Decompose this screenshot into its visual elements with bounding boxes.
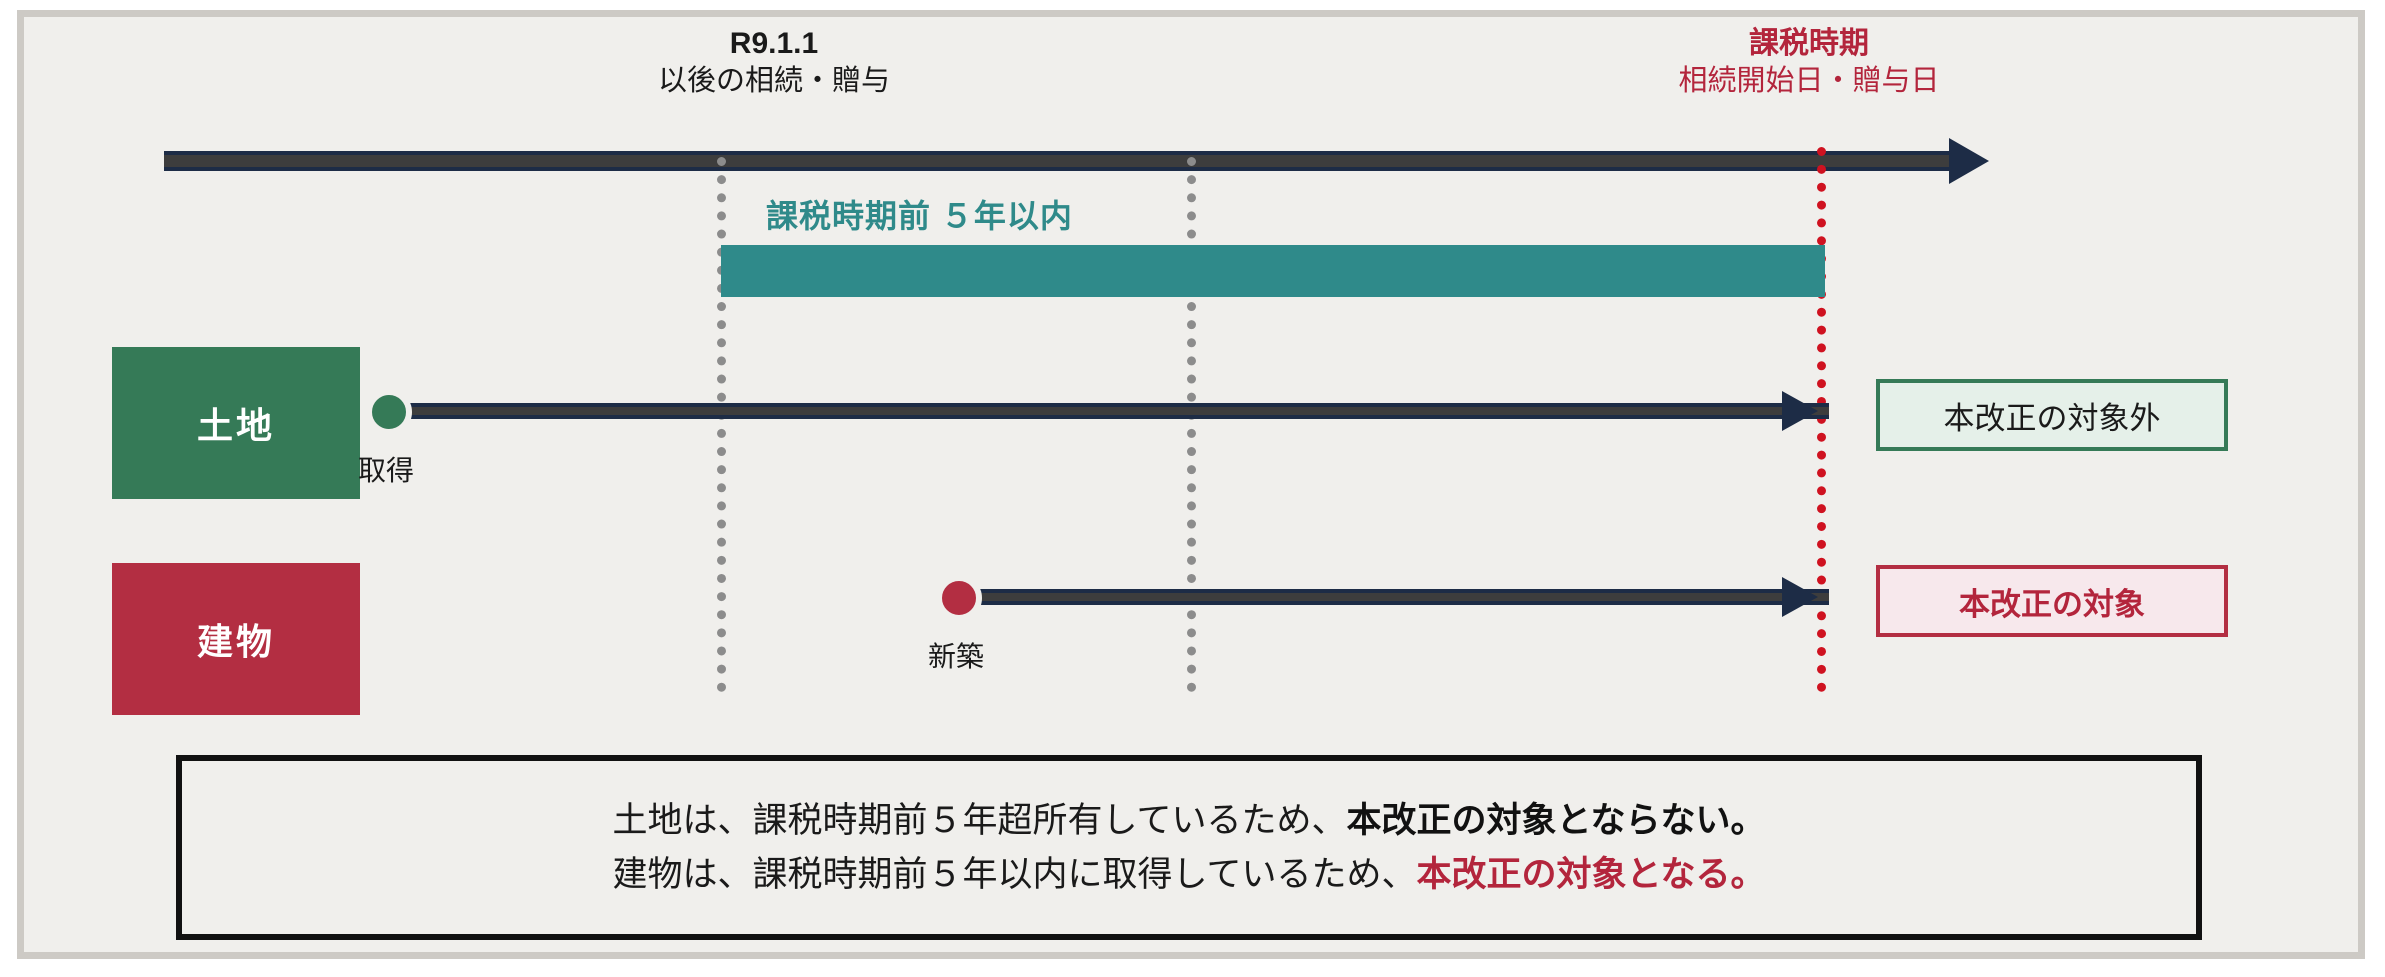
summary-line-1: 土地は、課税時期前５年超所有しているため、本改正の対象とならない。 xyxy=(613,794,1766,847)
summary-line-2-plain: 建物は、課税時期前５年以内に取得しているため、 xyxy=(613,855,1417,894)
building-ownership-bar xyxy=(954,589,1829,605)
summary-line-2: 建物は、課税時期前５年以内に取得しているため、本改正の対象となる。 xyxy=(613,848,1766,901)
category-label-building: 建物 xyxy=(197,613,275,665)
diagram-canvas: R9.1.1 以後の相続・贈与 課税時期 相続開始日・贈与日 課税時期前 ５年以… xyxy=(0,0,2385,977)
diagram-panel: R9.1.1 以後の相続・贈与 課税時期 相続開始日・贈与日 課税時期前 ５年以… xyxy=(17,10,2365,959)
guide-line-window-start xyxy=(717,157,726,692)
timeline-midpoint-title: R9.1.1 xyxy=(584,25,964,63)
window-band-label: 課税時期前 ５年以内 xyxy=(766,191,1073,237)
summary-line-1-emphasis: 本改正の対象とならない。 xyxy=(1347,801,1766,840)
land-event-label: 取得 xyxy=(306,449,466,489)
land-ownership-bar xyxy=(384,403,1829,419)
result-chip-land: 本改正の対象外 xyxy=(1876,379,2228,451)
window-band xyxy=(721,245,1825,297)
result-chip-land-label: 本改正の対象外 xyxy=(1944,393,2161,438)
building-event-dot-icon xyxy=(936,575,982,621)
land-arrow-head-icon xyxy=(1782,391,1818,431)
timeline-midpoint-subtitle: 以後の相続・贈与 xyxy=(584,63,964,99)
timeline-end-annotation: 課税時期 相続開始日・贈与日 xyxy=(1599,25,2019,99)
result-chip-building: 本改正の対象 xyxy=(1876,565,2228,637)
building-arrow-head-icon xyxy=(1782,577,1818,617)
guide-line-taxation-date xyxy=(1817,147,1826,692)
timeline-end-title: 課税時期 xyxy=(1599,25,2019,63)
timeline-midpoint-annotation: R9.1.1 以後の相続・贈与 xyxy=(584,25,964,99)
building-event-label: 新築 xyxy=(876,635,1036,675)
summary-line-1-plain: 土地は、課税時期前５年超所有しているため、 xyxy=(613,801,1347,840)
summary-line-2-emphasis: 本改正の対象となる。 xyxy=(1417,855,1766,894)
guide-line-r911 xyxy=(1187,157,1196,692)
result-chip-building-label: 本改正の対象 xyxy=(1959,579,2145,624)
category-label-land: 土地 xyxy=(197,397,275,449)
timeline-arrow-head-icon xyxy=(1949,138,1989,184)
summary-box: 土地は、課税時期前５年超所有しているため、本改正の対象とならない。 建物は、課税… xyxy=(176,755,2202,940)
category-box-building: 建物 xyxy=(112,563,360,715)
timeline-axis-bar xyxy=(164,151,1954,171)
land-event-dot-icon xyxy=(366,389,412,435)
timeline-end-subtitle: 相続開始日・贈与日 xyxy=(1599,63,2019,99)
